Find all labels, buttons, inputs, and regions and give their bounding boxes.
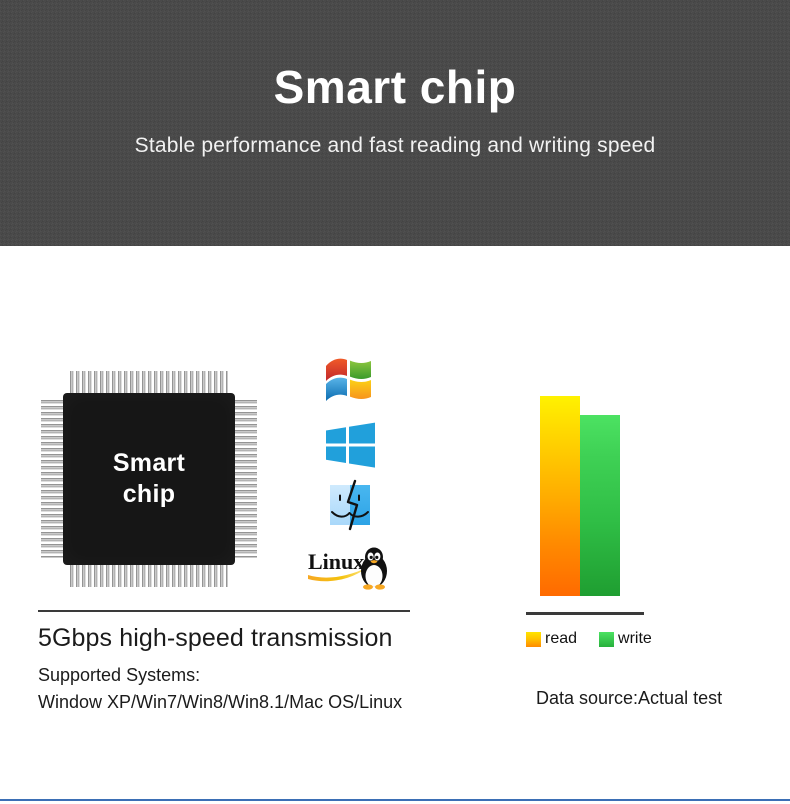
product-detail-page: Smart chip Stable performance and fast r…: [0, 0, 790, 804]
transmission-headline: 5Gbps high-speed transmission: [38, 624, 478, 653]
mac-finder-icon: [318, 478, 382, 532]
page-title: Smart chip: [0, 64, 790, 110]
chip-illustration: Smart chip: [38, 368, 260, 590]
supported-systems-block: Supported Systems: Window XP/Win7/Win8/W…: [38, 662, 498, 717]
legend-item-read: read: [526, 630, 577, 648]
legend-swatch-write-icon: [599, 632, 614, 647]
hero-banner: Smart chip Stable performance and fast r…: [0, 0, 790, 246]
legend-swatch-read-icon: [526, 632, 541, 647]
chart-data-source-note: Data source:Actual test: [536, 688, 722, 709]
speed-bar-chart: read write: [520, 380, 740, 620]
chart-legend: read write: [526, 630, 652, 648]
chip-label-line2: chip: [123, 479, 176, 510]
bar-read: [540, 396, 580, 596]
page-subtitle: Stable performance and fast reading and …: [0, 134, 790, 158]
windows-8-icon: [318, 418, 382, 472]
chip-label-line1: Smart: [113, 448, 185, 479]
windows-xp-icon: [318, 352, 382, 406]
chip-body: Smart chip: [63, 393, 235, 565]
left-divider: [38, 610, 410, 612]
bar-write: [580, 415, 620, 596]
chart-baseline-axis: [526, 612, 644, 615]
svg-text:Linux: Linux: [308, 549, 364, 574]
legend-item-write: write: [599, 630, 652, 648]
legend-label-read: read: [545, 630, 577, 648]
supported-systems-label: Supported Systems:: [38, 662, 498, 689]
linux-tux-icon: Linux: [306, 542, 390, 596]
supported-systems-value: Window XP/Win7/Win8/Win8.1/Mac OS/Linux: [38, 689, 498, 716]
chart-plot-area: [520, 388, 680, 596]
legend-label-write: write: [618, 630, 652, 648]
footer-divider: [0, 799, 790, 801]
